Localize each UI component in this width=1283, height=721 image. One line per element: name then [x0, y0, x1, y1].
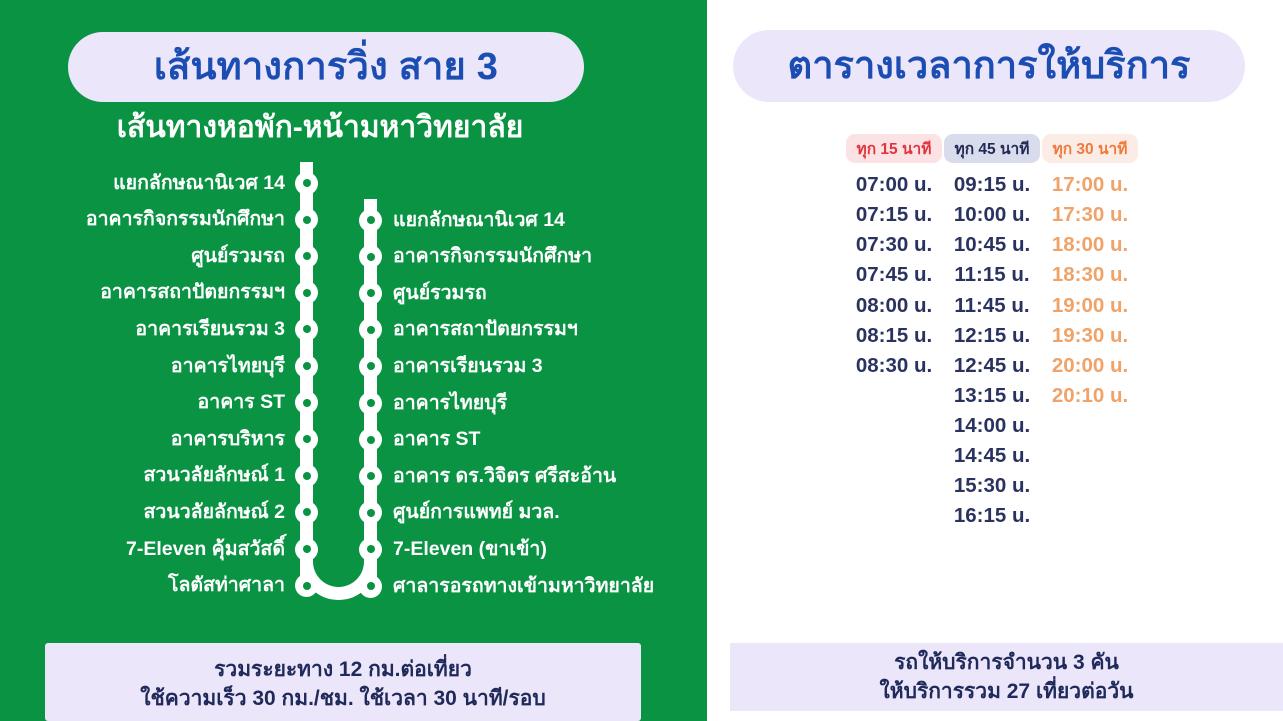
schedule-time: 17:00 u. — [1052, 170, 1128, 200]
station-dot — [359, 465, 382, 488]
schedule-time: 15:30 u. — [954, 471, 1030, 501]
station-dot — [359, 428, 382, 451]
station-label-inbound: อาคาร ST — [393, 430, 480, 450]
schedule-panel: ตารางเวลาการให้บริการ ทุก 15 นาที07:00 u… — [707, 0, 1283, 721]
route-summary-note: รวมระยะทาง 12 กม.ต่อเที่ยว ใช้ความเร็ว 3… — [45, 643, 641, 721]
station-dot — [295, 464, 318, 487]
station-dot — [295, 391, 318, 414]
schedule-table: ทุก 15 นาที07:00 u.07:15 u.07:30 u.07:45… — [845, 134, 1139, 532]
route-title: เส้นทางการวิ่ง สาย 3 — [154, 48, 498, 86]
schedule-time: 12:15 u. — [954, 321, 1030, 351]
station-dot — [359, 538, 382, 561]
station-dot — [359, 575, 382, 598]
route-summary-line-2: ใช้ความเร็ว 30 กม./ชม. ใช้เวลา 30 นาที/ร… — [140, 687, 545, 710]
station-label-inbound: ศูนย์การแพทย์ มวล. — [393, 503, 560, 523]
schedule-time: 12:45 u. — [954, 351, 1030, 381]
schedule-title-pill: ตารางเวลาการให้บริการ — [733, 30, 1245, 102]
station-dot — [359, 392, 382, 415]
schedule-time: 08:30 u. — [856, 351, 932, 381]
station-dot — [359, 501, 382, 524]
schedule-time: 20:10 u. — [1052, 381, 1128, 411]
fleet-summary-line-1: รถให้บริการจำนวน 3 คัน — [894, 651, 1119, 674]
station-dot — [295, 428, 318, 451]
station-dot — [295, 538, 318, 561]
station-label-outbound: แยกลักษณานิเวศ 14 — [113, 174, 285, 194]
schedule-time: 07:45 u. — [856, 260, 932, 290]
station-label-outbound: สวนวลัยลักษณ์ 1 — [144, 466, 285, 486]
station-label-inbound: แยกลักษณานิเวศ 14 — [393, 211, 565, 231]
station-dot — [295, 501, 318, 524]
schedule-time: 08:15 u. — [856, 321, 932, 351]
schedule-time: 18:00 u. — [1052, 230, 1128, 260]
schedule-time: 07:30 u. — [856, 230, 932, 260]
schedule-column-header: ทุก 30 นาที — [1042, 134, 1139, 163]
route-map: แยกลักษณานิเวศ 14อาคารกิจกรรมนักศึกษาศูน… — [0, 150, 707, 620]
station-label-inbound: อาคารเรียนรวม 3 — [393, 357, 543, 377]
schedule-title: ตารางเวลาการให้บริการ — [788, 47, 1191, 85]
station-label-outbound: อาคารกิจกรรมนักศึกษา — [86, 210, 285, 230]
schedule-column: ทุก 30 นาที17:00 u.17:30 u.18:00 u.18:30… — [1041, 134, 1139, 532]
station-label-inbound: อาคารสถาปัตยกรรมฯ — [393, 320, 578, 340]
schedule-time: 07:00 u. — [856, 170, 932, 200]
schedule-time: 14:00 u. — [954, 411, 1030, 441]
station-dot — [359, 245, 382, 268]
station-dot — [295, 172, 318, 195]
schedule-time: 19:30 u. — [1052, 321, 1128, 351]
schedule-time: 09:15 u. — [954, 170, 1030, 200]
schedule-column: ทุก 45 นาที09:15 u.10:00 u.10:45 u.11:15… — [943, 134, 1041, 532]
station-label-outbound: ศูนย์รวมรถ — [191, 247, 285, 267]
station-label-inbound: อาคารกิจกรรมนักศึกษา — [393, 247, 592, 267]
fleet-summary-line-2: ให้บริการรวม 27 เที่ยวต่อวัน — [880, 680, 1134, 703]
station-dot — [359, 282, 382, 305]
station-dot — [295, 355, 318, 378]
schedule-time: 11:15 u. — [954, 260, 1029, 290]
schedule-column: ทุก 15 นาที07:00 u.07:15 u.07:30 u.07:45… — [845, 134, 943, 532]
station-label-inbound: อาคารไทยบุรี — [393, 394, 507, 414]
schedule-time: 14:45 u. — [954, 441, 1030, 471]
station-label-outbound: สวนวลัยลักษณ์ 2 — [144, 503, 285, 523]
station-label-inbound: อาคาร ดร.วิจิตร ศรีสะอ้าน — [393, 467, 616, 487]
station-label-outbound: อาคารเรียนรวม 3 — [135, 320, 285, 340]
station-label-outbound: 7-Eleven คุ้มสวัสดิ์ — [126, 540, 285, 560]
schedule-time: 07:15 u. — [856, 200, 932, 230]
schedule-time: 17:30 u. — [1052, 200, 1128, 230]
schedule-time: 10:45 u. — [954, 230, 1030, 260]
station-dot — [295, 574, 318, 597]
schedule-time: 08:00 u. — [856, 291, 932, 321]
station-dot — [359, 355, 382, 378]
schedule-time: 19:00 u. — [1052, 291, 1128, 321]
route-title-pill: เส้นทางการวิ่ง สาย 3 — [68, 32, 584, 102]
station-dot — [295, 318, 318, 341]
route-subtitle: เส้นทางหอพัก-หน้ามหาวิทยาลัย — [0, 104, 640, 151]
station-label-outbound: อาคารบริหาร — [171, 430, 285, 450]
route-infographic-page: เส้นทางการวิ่ง สาย 3 เส้นทางหอพัก-หน้ามห… — [0, 0, 1283, 721]
station-label-outbound: อาคารไทยบุรี — [171, 357, 285, 377]
station-dot — [295, 208, 318, 231]
station-label-outbound: อาคารสถาปัตยกรรมฯ — [100, 283, 285, 303]
fleet-summary-note: รถให้บริการจำนวน 3 คัน ให้บริการรวม 27 เ… — [730, 643, 1283, 711]
station-label-outbound: อาคาร ST — [198, 393, 285, 413]
schedule-time: 10:00 u. — [954, 200, 1030, 230]
schedule-time: 13:15 u. — [954, 381, 1030, 411]
schedule-time: 11:45 u. — [954, 291, 1029, 321]
station-label-inbound: ศูนย์รวมรถ — [393, 284, 487, 304]
route-panel: เส้นทางการวิ่ง สาย 3 เส้นทางหอพัก-หน้ามห… — [0, 0, 707, 721]
station-dot — [295, 245, 318, 268]
station-dot — [359, 209, 382, 232]
station-label-outbound: โลตัสท่าศาลา — [168, 576, 285, 596]
station-dot — [295, 281, 318, 304]
station-label-inbound: 7-Eleven (ขาเข้า) — [393, 540, 547, 560]
schedule-time: 20:00 u. — [1052, 351, 1128, 381]
station-dot — [359, 318, 382, 341]
schedule-column-header: ทุก 15 นาที — [846, 134, 943, 163]
station-label-inbound: ศาลารอรถทางเข้ามหาวิทยาลัย — [393, 577, 654, 597]
schedule-column-header: ทุก 45 นาที — [944, 134, 1041, 163]
schedule-time: 18:30 u. — [1052, 260, 1128, 290]
schedule-time: 16:15 u. — [954, 501, 1030, 531]
route-summary-line-1: รวมระยะทาง 12 กม.ต่อเที่ยว — [214, 658, 472, 681]
